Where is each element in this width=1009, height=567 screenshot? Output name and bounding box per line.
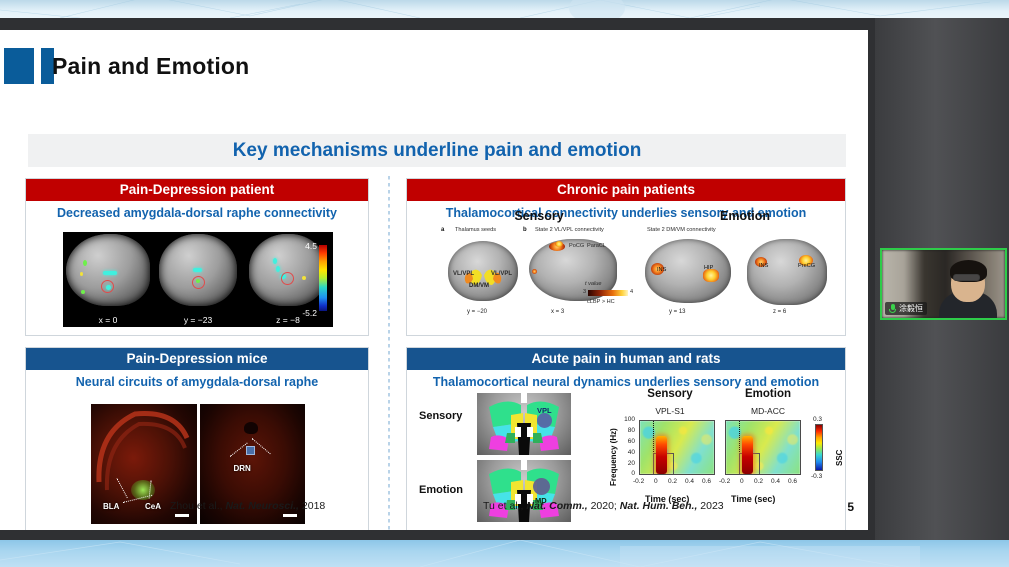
slice-label: z = −8 [243,315,333,325]
citation-right-year-2: 2023 [697,500,723,512]
figure-caption: Thalamus seeds [455,227,496,233]
slice-label: x = 3 [551,309,564,315]
meeting-screen-share: Pain and Emotion Key mechanisms underlin… [0,0,1009,567]
figure-thalamus-seeds: a Thalamus seeds VL/VPL VL/VPL DM/VM y =… [443,229,521,321]
slice-label: y = −20 [467,309,487,315]
row-label-emotion: Emotion [419,484,463,496]
y-tick: 60 [628,438,635,445]
background-top-banner [0,0,1009,18]
activation-blob [103,271,117,275]
spectrogram-heatmap [640,421,714,474]
mri-slice-sagittal: x = 0 [63,232,153,327]
x-tick: 0.2 [668,478,677,485]
scale-bar [283,514,297,517]
panel-letter-b: b [523,227,527,233]
microphone-icon [889,304,896,313]
panel-subtitle: Decreased amygdala-dorsal raphe connecti… [26,201,368,222]
region-label-paracl: ParaCL [587,243,606,249]
panel-pain-depression-patient: Pain-Depression patient Decreased amygda… [25,178,369,336]
ssc-colorbar-min: -0.3 [811,473,822,480]
panel-header: Pain-Depression mice [26,348,368,370]
column-heading-sensory: Sensory [469,209,609,223]
background-bottom-banner [0,540,1009,567]
activation-blob [80,272,83,276]
label-bla: BLA [103,502,119,511]
page-title-text: Pain and Emotion [52,53,249,79]
y-tick: 40 [628,449,635,456]
ventricle [244,422,258,434]
panel-chronic-pain-patients: Chronic pain patients Thalamocortical co… [406,178,846,336]
x-tick: -0.2 [633,478,644,485]
x-tick: 0.4 [771,478,780,485]
participant-name-badge: 涂毅恒 [885,302,927,315]
participant-name-text: 涂毅恒 [899,303,923,314]
slice-label: y = −23 [153,315,243,325]
y-tick: 80 [628,427,635,434]
citation-left-journal: Nat. Neurosci., [225,500,299,512]
panel-header: Chronic pain patients [407,179,845,201]
participant-glasses [953,274,980,281]
response-burst [742,436,753,474]
roi-circle [101,280,114,293]
x-tick: 0.2 [754,478,763,485]
ssc-colorbar [815,424,823,471]
column-heading-emotion: Emotion [675,209,815,223]
activation-blob [273,258,277,264]
x-tick: 0 [740,478,744,485]
x-tick: 0.6 [702,478,711,485]
contrast-label: cLBP > HC [587,299,615,305]
region-label-precg: PreCG [798,263,815,269]
citation-left-author: Zhou et al., [170,500,225,512]
seed-label-left: VL/VPL [453,271,474,277]
thalamus-atlas-sensory: VPL [477,393,571,455]
seed-label-vpl: VPL [537,406,552,415]
presentation-slide: Pain and Emotion Key mechanisms underlin… [0,30,868,530]
activation-blob [302,276,306,280]
citation-right-journal-2: Nat. Hum. Beh., [620,500,698,512]
seed-label-right: VL/VPL [491,271,512,277]
slice-label: y = 13 [669,309,686,315]
y-tick: 100 [624,416,635,423]
atlas-overlay [477,460,571,522]
scale-bar [175,514,189,517]
colorbar-min-label: -5.2 [302,308,317,318]
tvalue-title: t value [585,281,601,287]
activation-blob [193,268,202,272]
panel-header: Pain-Depression patient [26,179,368,201]
activation-blob [83,260,87,266]
citation-right: Tu et al., Nat. Comm., 2020; Nat. Hum. B… [483,500,724,512]
ssc-colorbar-max: 0.3 [813,416,822,423]
row-label-sensory: Sensory [419,410,462,422]
x-tick: -0.2 [719,478,730,485]
mri-slice-coronal: y = −23 [153,232,243,327]
spectrogram-vpl-s1 [639,420,715,475]
activation-blob [276,266,280,272]
participant-video-tile[interactable]: 涂毅恒 [880,248,1007,320]
brain-render [66,234,150,306]
region-label-ins: INS [657,267,666,273]
spectrogram-group-sensory: Sensory [625,388,715,400]
slide-title-row: Pain and Emotion [0,48,868,88]
colorbar [319,245,327,311]
tvalue-colorbar [588,290,628,296]
figure-caption: State 2 VL/VPL connectivity [535,227,604,233]
slide-banner: Key mechanisms underline pain and emotio… [28,134,846,167]
seed-label-dmvm: DM/VM [469,283,489,289]
figure-state2-dmvm-axial: INS PreCG z = 6 [743,229,833,321]
mri-slice-strip: x = 0 y = −23 z = −8 [63,232,333,327]
spectrogram-subtitle-vpl-s1: VPL-S1 [625,406,715,416]
banner-text: Key mechanisms underline pain and emotio… [233,140,642,162]
tvalue-max: 4 [630,289,633,295]
figure-caption: State 2 DM/VM connectivity [647,227,716,233]
citation-left-year: 2018 [299,500,325,512]
y-tick: 0 [631,470,635,477]
citation-right-journal-1: Nat. Comm., [526,500,587,512]
figure-state2-vlvpl: b State 2 VL/VPL connectivity PoCG ParaC… [525,229,621,321]
x-tick: 0.6 [788,478,797,485]
slice-label: z = 6 [773,309,786,315]
seed-vpl [537,413,552,428]
atlas-overlay [477,393,571,455]
tvalue-min: 3 [583,289,586,295]
spectrogram-y-ticks: 100 80 60 40 20 0 [615,420,637,476]
y-tick: 20 [628,460,635,467]
spectrogram-heatmap [726,421,800,474]
citation-right-year-1: 2020; [588,500,620,512]
activation-cluster [555,241,563,247]
figure-state2-dmvm-coronal: State 2 DM/VM connectivity INS HIP y = 1… [641,229,737,321]
citation-right-author: Tu et al., [483,500,526,512]
slide-number: 5 [847,500,854,514]
injection-site [246,446,255,455]
label-cea: CeA [145,502,161,511]
label-drn: DRN [234,464,251,473]
x-tick: 0 [654,478,658,485]
page-title: Pain and Emotion [52,48,249,84]
panel-letter-a: a [441,227,444,233]
colorbar-max-label: 4.5 [305,241,317,251]
title-accent-block-wide [4,48,34,84]
x-tick: 0.4 [685,478,694,485]
spectrogram-group-emotion: Emotion [723,388,813,400]
spectrogram-subtitle-md-acc: MD-ACC [723,406,813,416]
spectrogram-md-acc [725,420,801,475]
citation-left: Zhou et al., Nat. Neurosci., 2018 [170,500,325,512]
roi-circle [192,276,205,289]
thalamus-atlas-emotion: MD [477,460,571,522]
panel-subtitle: Neural circuits of amygdala-dorsal raphe [26,370,368,391]
outline-dots [229,443,247,457]
brain-render [747,239,827,305]
roi-circle [281,272,294,285]
spectrogram-x-axis-label-right: Time (sec) [731,494,775,504]
activation-cluster [532,269,537,274]
region-label-pocg: PoCG [569,243,584,249]
column-divider [388,176,390,530]
response-burst [656,436,667,474]
seed-md [533,478,550,495]
ssc-colorbar-label: SSC [835,450,844,466]
region-label-ins2: INS [759,263,768,269]
slice-label: x = 0 [63,315,153,325]
region-label-hip: HIP [704,265,713,271]
activation-blob [81,290,85,294]
panel-header: Acute pain in human and rats [407,348,845,370]
